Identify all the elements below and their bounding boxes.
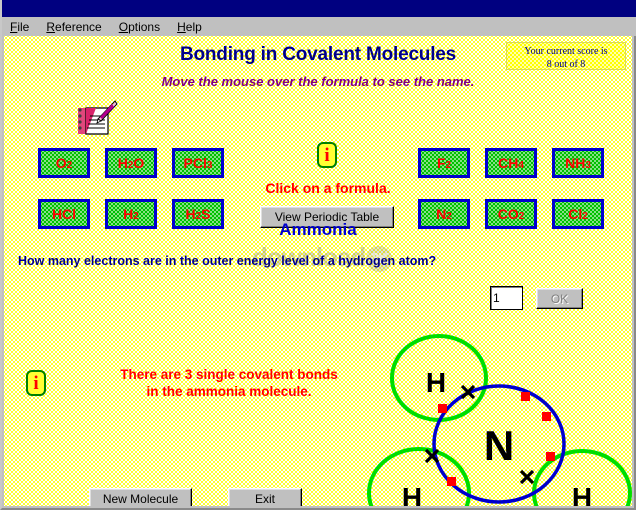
- feedback-line-1: There are 3 single covalent bonds: [84, 366, 374, 383]
- formula-button-f2[interactable]: F2: [418, 148, 470, 178]
- nitrogen-electron-4: [546, 452, 555, 461]
- nitrogen-electron-1: [438, 404, 447, 413]
- menu-item-help[interactable]: Help: [177, 20, 202, 34]
- feedback-info-icon: i: [26, 370, 46, 396]
- nitrogen-electron-5: [447, 477, 456, 486]
- formula-button-o2[interactable]: O2: [38, 148, 90, 178]
- client-area: Your current score is 8 out of 8 Bonding…: [4, 36, 632, 506]
- application-window: File Reference Options Help Your current…: [0, 0, 636, 510]
- feedback-line-2: in the ammonia molecule.: [84, 383, 374, 400]
- nitrogen-electron-3: [542, 412, 551, 421]
- formula-button-h2o[interactable]: H2O: [105, 148, 157, 178]
- question-text: How many electrons are in the outer ener…: [18, 254, 436, 268]
- atom-label-hydrogen-bottom-right: H: [572, 482, 592, 506]
- molecule-name-heading: Ammonia: [4, 220, 632, 240]
- hydrogen-electron-x-bottom-right: [521, 471, 533, 483]
- atom-label-nitrogen: N: [484, 422, 514, 469]
- menu-item-options[interactable]: Options: [119, 20, 160, 34]
- formula-button-nh3[interactable]: NH3: [552, 148, 604, 178]
- menu-item-reference[interactable]: Reference: [46, 20, 101, 34]
- feedback-message: There are 3 single covalent bonds in the…: [84, 366, 374, 400]
- menu-item-file[interactable]: File: [10, 20, 29, 34]
- window-titlebar: [2, 0, 636, 17]
- ok-button[interactable]: OK: [536, 288, 583, 309]
- molecule-diagram: N H H H: [364, 324, 632, 506]
- answer-input[interactable]: [490, 286, 523, 310]
- info-icon: i: [317, 142, 337, 168]
- formula-button-pcl3[interactable]: PCl3: [172, 148, 224, 178]
- atom-label-hydrogen-bottom-left: H: [402, 482, 422, 506]
- click-formula-prompt: Click on a formula.: [242, 180, 414, 196]
- page-subtitle: Move the mouse over the formula to see t…: [4, 74, 632, 89]
- menu-bar: File Reference Options Help: [2, 17, 636, 36]
- notepad-pen-icon: [74, 99, 118, 139]
- exit-button[interactable]: Exit: [228, 488, 302, 506]
- new-molecule-button[interactable]: New Molecule: [89, 488, 192, 506]
- formula-button-ch4[interactable]: CH4: [485, 148, 537, 178]
- nitrogen-electron-2: [521, 392, 530, 401]
- atom-label-hydrogen-top: H: [426, 367, 446, 398]
- page-title: Bonding in Covalent Molecules: [4, 44, 632, 66]
